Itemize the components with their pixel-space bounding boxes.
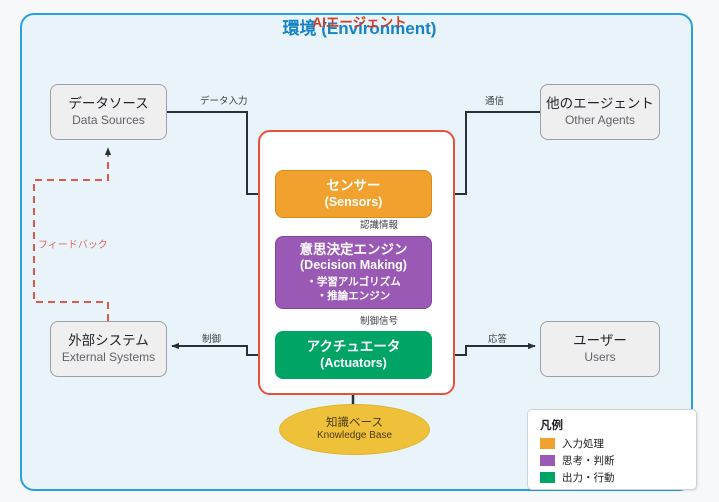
legend-swatch-thinking (540, 455, 555, 466)
node-other-agents-jp: 他のエージェント (546, 96, 654, 112)
node-decision-making-bullets: ・学習アルゴリズム ・推論エンジン (306, 276, 400, 303)
node-users-en: Users (584, 350, 615, 365)
legend-item-input: 入力処理 (540, 436, 696, 451)
legend-label-thinking: 思考・判断 (562, 453, 615, 468)
edge-label-feedback: フィードバック (38, 236, 108, 251)
node-sensors-jp: センサー (327, 178, 381, 194)
node-actuators-jp: アクチュエータ (307, 339, 401, 355)
node-knowledge-base-en: Knowledge Base (317, 430, 392, 442)
node-users[interactable]: ユーザー Users (540, 321, 660, 377)
legend-label-input: 入力処理 (562, 436, 604, 451)
node-external-systems-en: External Systems (62, 350, 155, 365)
legend-label-output: 出力・行動 (562, 470, 615, 485)
edge-label-perception: 認識情報 (360, 217, 398, 231)
node-sensors[interactable]: センサー (Sensors) (275, 170, 432, 218)
node-knowledge-base-jp: 知識ベース (326, 416, 383, 430)
ai-agent-title: AIエージェント (0, 11, 719, 31)
node-decision-making[interactable]: 意思決定エンジン (Decision Making) ・学習アルゴリズム ・推論… (275, 236, 432, 309)
edge-label-control: 制御 (202, 331, 221, 345)
node-other-agents-en: Other Agents (565, 113, 635, 128)
node-external-systems[interactable]: 外部システム External Systems (50, 321, 167, 377)
node-actuators[interactable]: アクチュエータ (Actuators) (275, 331, 432, 379)
legend-swatch-output (540, 472, 555, 483)
node-decision-making-jp: 意思決定エンジン (300, 242, 408, 258)
legend-panel: 凡例 入力処理 思考・判断 出力・行動 (527, 409, 697, 490)
diagram-canvas: 環境 (Environment) AIエージェント データソース (0, 0, 719, 502)
legend-title: 凡例 (540, 417, 696, 433)
node-data-sources[interactable]: データソース Data Sources (50, 84, 167, 140)
edge-label-communication: 通信 (485, 93, 504, 107)
node-sensors-en: (Sensors) (325, 195, 383, 210)
node-decision-making-en: (Decision Making) (300, 258, 407, 273)
legend-item-thinking: 思考・判断 (540, 453, 696, 468)
node-data-sources-jp: データソース (68, 96, 148, 112)
edge-label-data-input: データ入力 (200, 93, 248, 107)
legend-item-output: 出力・行動 (540, 470, 696, 485)
node-actuators-en: (Actuators) (320, 356, 387, 371)
node-other-agents[interactable]: 他のエージェント Other Agents (540, 84, 660, 140)
node-data-sources-en: Data Sources (72, 113, 145, 128)
node-users-jp: ユーザー (573, 333, 627, 349)
legend-swatch-input (540, 438, 555, 449)
edge-label-control-signal: 制御信号 (360, 313, 398, 327)
node-external-systems-jp: 外部システム (68, 333, 149, 349)
node-knowledge-base[interactable]: 知識ベース Knowledge Base (279, 404, 430, 455)
edge-label-response: 応答 (488, 331, 507, 345)
